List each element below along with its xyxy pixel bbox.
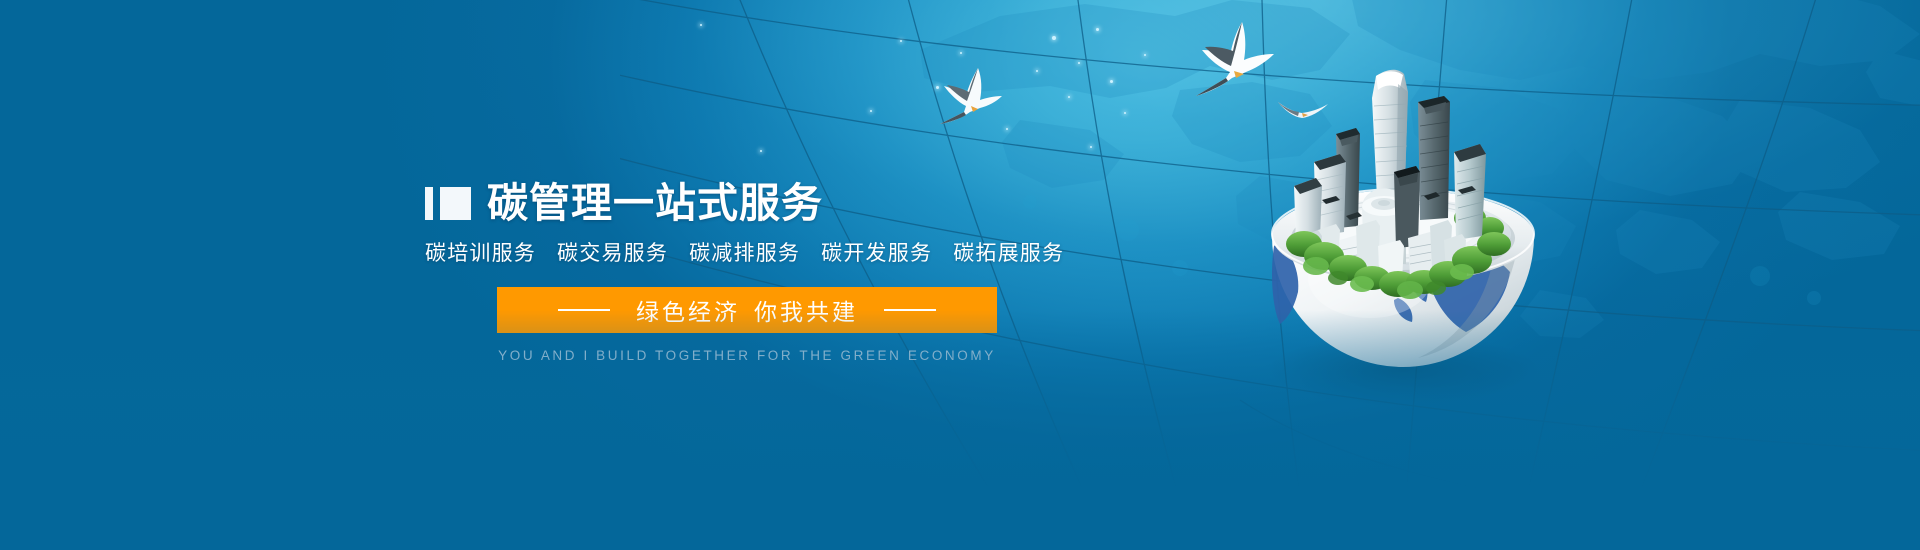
bar-square-marker-icon bbox=[425, 187, 471, 220]
background-bottom-fade bbox=[0, 310, 1920, 550]
service-item-3: 碳减排服务 bbox=[689, 242, 800, 265]
page-title: 碳管理一站式服务 bbox=[487, 183, 823, 224]
service-item-1: 碳培训服务 bbox=[425, 242, 536, 265]
title-row: 碳管理一站式服务 bbox=[425, 180, 1125, 226]
hero-banner: 碳管理一站式服务 碳培训服务 碳交易服务 碳减排服务 碳开发服务 碳拓展服务 绿… bbox=[0, 0, 1920, 550]
service-item-2: 碳交易服务 bbox=[557, 242, 668, 265]
seagull-icon bbox=[938, 62, 1012, 128]
service-item-4: 碳开发服务 bbox=[821, 242, 932, 265]
marker-bar bbox=[425, 187, 433, 220]
service-list: 碳培训服务 碳交易服务 碳减排服务 碳开发服务 碳拓展服务 bbox=[425, 237, 1125, 267]
marker-square bbox=[440, 187, 471, 220]
service-item-5: 碳拓展服务 bbox=[953, 242, 1064, 265]
